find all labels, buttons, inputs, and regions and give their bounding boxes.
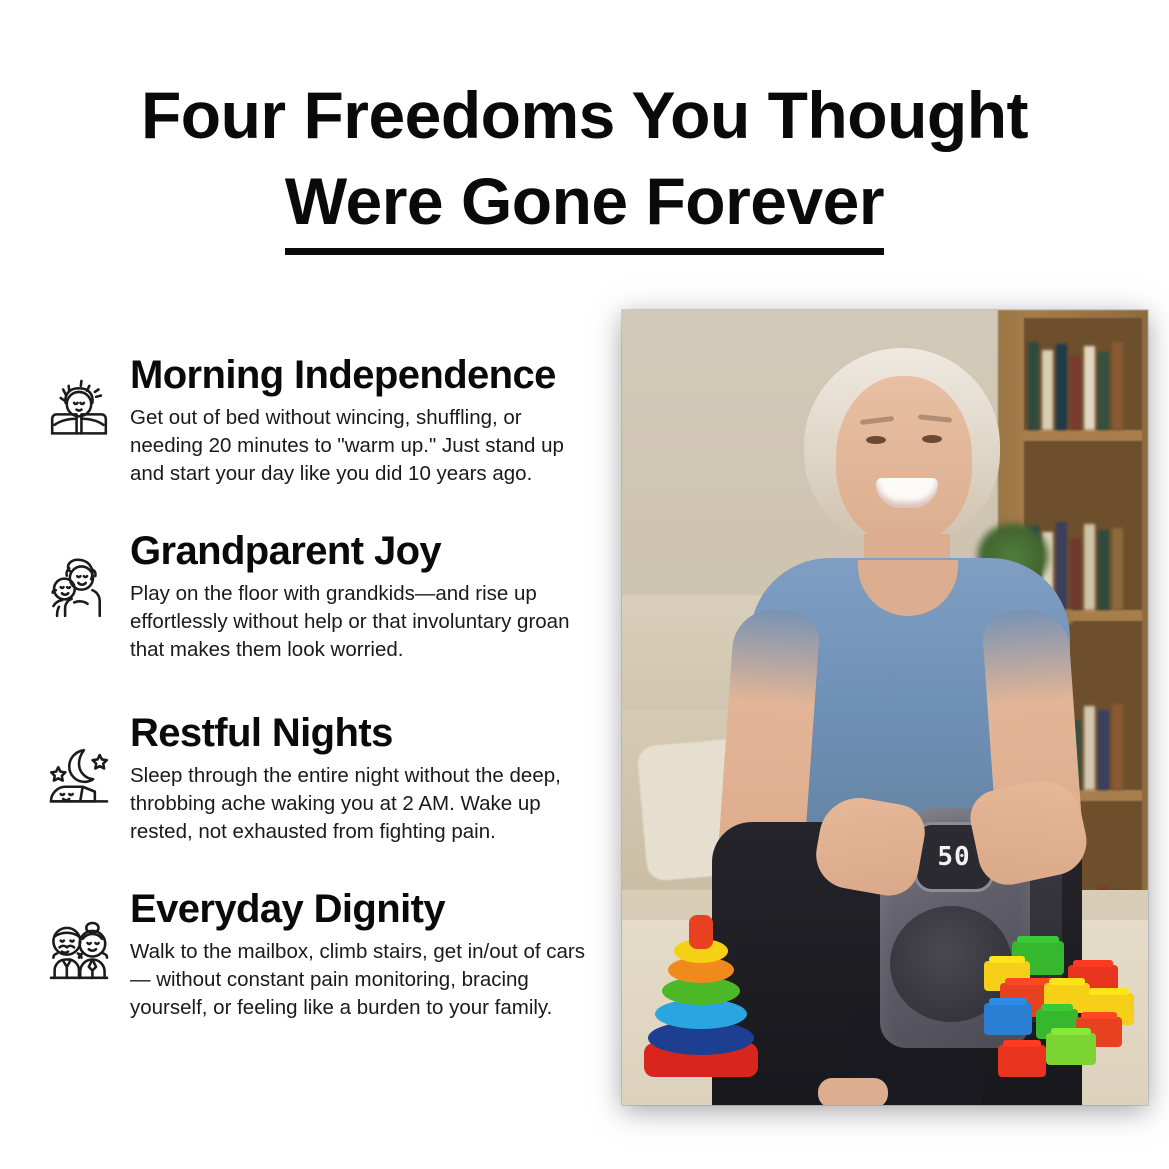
feature-heading: Everyday Dignity: [130, 886, 600, 932]
feature-body: Walk to the mailbox, climb stairs, get i…: [130, 938, 600, 1022]
device-display-value: 50: [937, 842, 970, 872]
feature-heading: Grandparent Joy: [130, 528, 600, 574]
feature-heading: Restful Nights: [130, 710, 600, 756]
person-waking-in-bed-icon: [40, 370, 118, 448]
feature-item-grandparent-joy: Grandparent Joy Play on the floor with g…: [40, 528, 600, 664]
feature-body: Get out of bed without wincing, shufflin…: [130, 404, 600, 488]
feature-item-morning-independence: Morning Independence Get out of bed with…: [40, 352, 600, 488]
product-photo-frame: 50: [622, 310, 1148, 1105]
title-line-2: Were Gone Forever: [285, 158, 884, 255]
feature-item-restful-nights: Restful Nights Sleep through the entire …: [40, 710, 600, 846]
feature-text: Morning Independence Get out of bed with…: [130, 352, 600, 488]
product-photo: 50: [622, 310, 1148, 1105]
feature-text: Restful Nights Sleep through the entire …: [130, 710, 600, 846]
moon-stars-sleeping-person-icon: [40, 738, 118, 816]
feature-body: Sleep through the entire night without t…: [130, 762, 600, 846]
feature-body: Play on the floor with grandkids—and ris…: [130, 580, 600, 664]
feature-text: Grandparent Joy Play on the floor with g…: [130, 528, 600, 664]
elderly-couple-icon: [40, 912, 118, 990]
infographic-page: Four Freedoms You Thought Were Gone Fore…: [0, 0, 1169, 1169]
feature-list: Morning Independence Get out of bed with…: [40, 352, 600, 1060]
building-blocks-toy: [984, 931, 1140, 1083]
page-title: Four Freedoms You Thought Were Gone Fore…: [0, 72, 1169, 255]
feature-text: Everyday Dignity Walk to the mailbox, cl…: [130, 886, 600, 1022]
grandparent-hugging-child-icon: [40, 550, 118, 628]
title-line-1: Four Freedoms You Thought: [0, 72, 1169, 158]
feature-heading: Morning Independence: [130, 352, 600, 398]
books-row: [1028, 338, 1138, 430]
feature-item-everyday-dignity: Everyday Dignity Walk to the mailbox, cl…: [40, 886, 600, 1022]
ring-stacker-toy: [642, 917, 760, 1077]
person-face: [836, 376, 972, 544]
